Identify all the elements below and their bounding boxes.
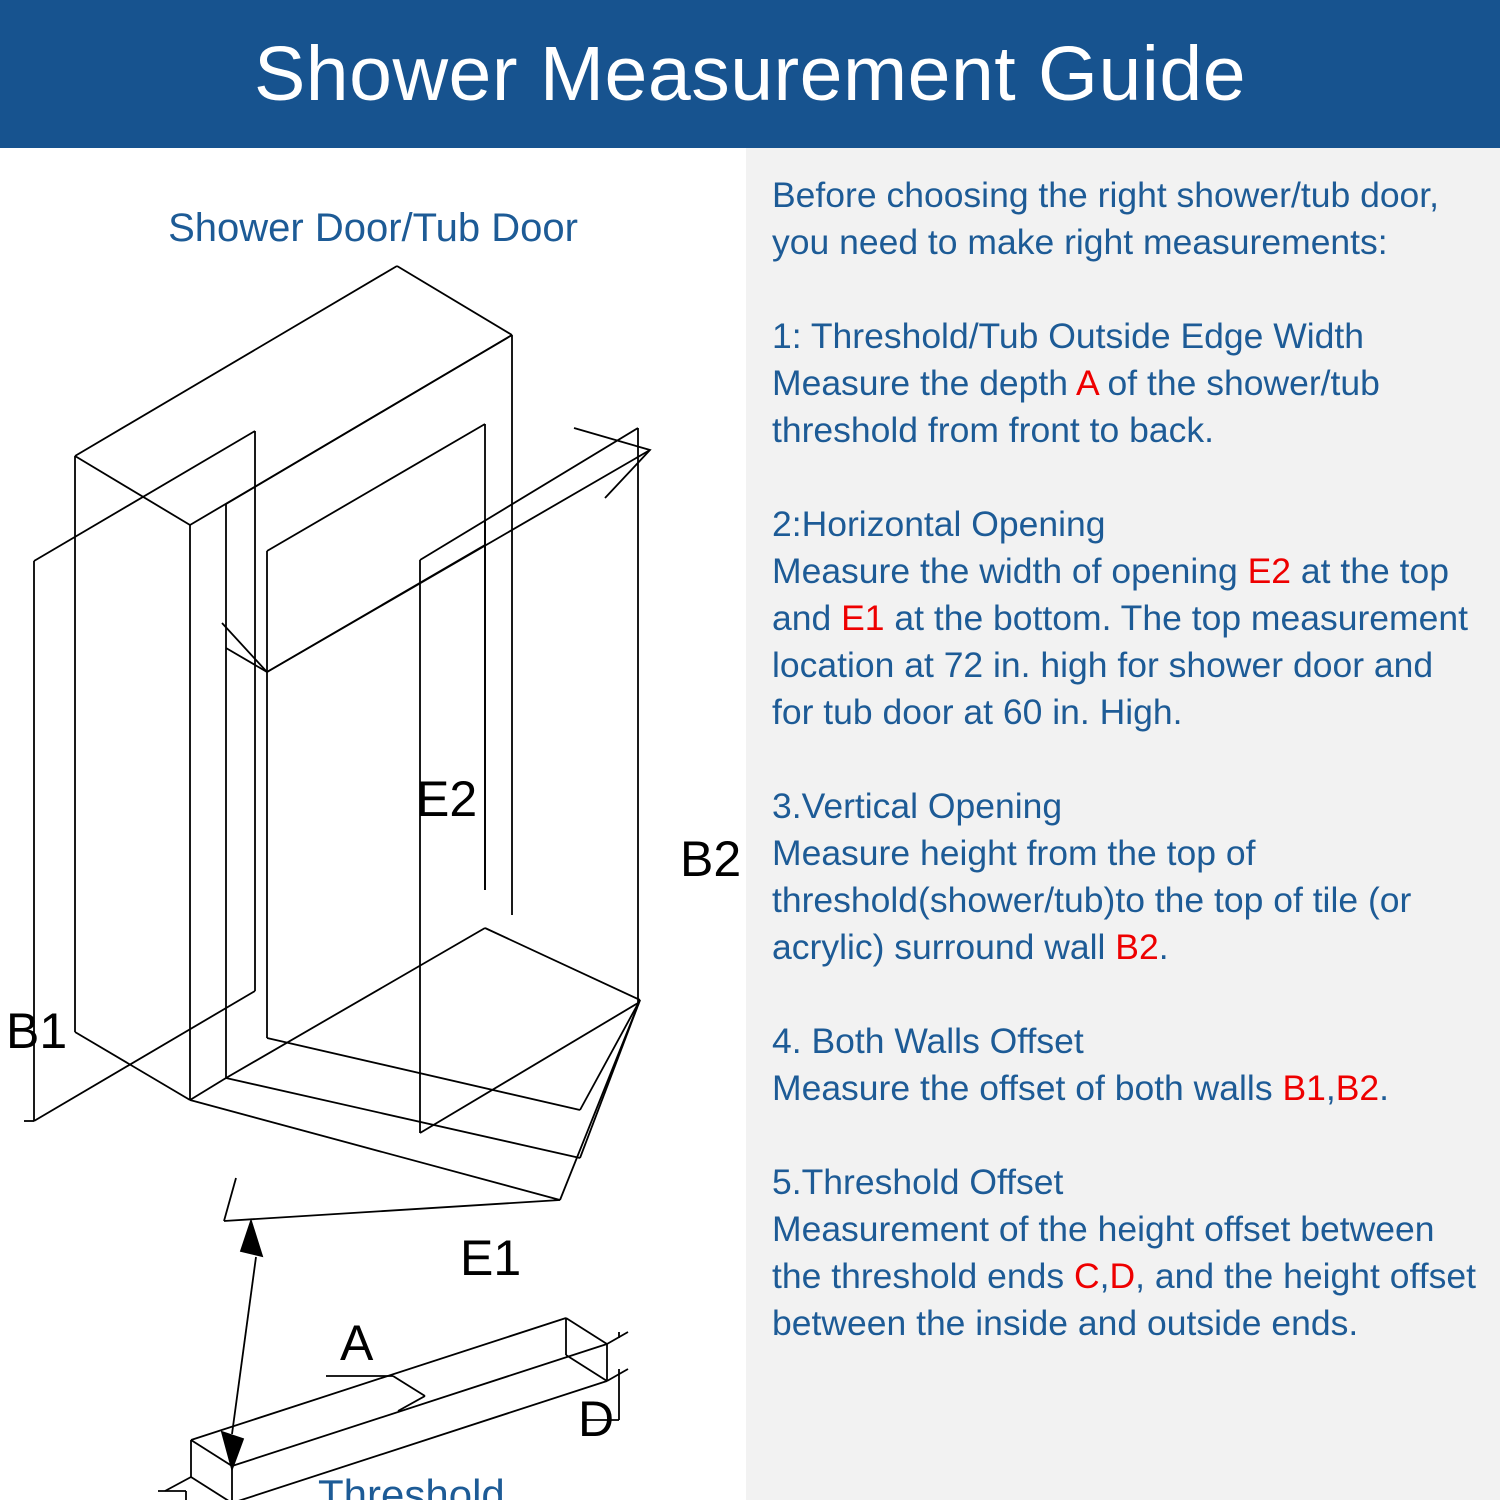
step-5-body-mid: , <box>1100 1256 1110 1296</box>
label-b1: B1 <box>6 1003 67 1059</box>
step-3-heading: 3.Vertical Opening <box>772 783 1484 830</box>
front-opening <box>226 335 512 1078</box>
step-1-mark-a: A <box>1076 363 1098 403</box>
step-4-body: Measure the offset of both walls B1,B2. <box>772 1065 1484 1112</box>
shower-enclosure-drawing: E2 E1 B1 B2 A C D Threshold <box>0 148 746 1500</box>
step-1-body: Measure the depth A of the shower/tub th… <box>772 360 1484 454</box>
step-5-mark-d: D <box>1109 1256 1135 1296</box>
step-2-body: Measure the width of opening E2 at the t… <box>772 548 1484 736</box>
step-2-mark-e2: E2 <box>1248 551 1291 591</box>
step-3-body-pre: Measure height from the top of threshold… <box>772 833 1411 967</box>
threshold-caption: Threshold <box>318 1471 505 1500</box>
enclosure-top-slab <box>75 266 512 525</box>
spacer <box>772 454 1484 501</box>
step-4-mark-b1: B1 <box>1282 1068 1325 1108</box>
label-b2: B2 <box>680 831 741 887</box>
guide-page: Shower Measurement Guide Shower Door/Tub… <box>0 0 1500 1500</box>
a-leader-line <box>326 1376 425 1411</box>
label-a: A <box>340 1315 374 1371</box>
step-4-mark-b2: B2 <box>1336 1068 1379 1108</box>
page-title: Shower Measurement Guide <box>254 36 1246 113</box>
label-c: C <box>152 1491 188 1500</box>
step-5-heading: 5.Threshold Offset <box>772 1159 1484 1206</box>
e1-dimension-line <box>224 1178 560 1221</box>
step-2-mark-e1: E1 <box>841 598 884 638</box>
step-2-heading: 2:Horizontal Opening <box>772 501 1484 548</box>
step-4-body-post: . <box>1379 1068 1389 1108</box>
spacer <box>772 736 1484 783</box>
step-2-body-pre: Measure the width of opening <box>772 551 1248 591</box>
spacer <box>772 1112 1484 1159</box>
label-e2: E2 <box>416 771 477 827</box>
step-5-body: Measurement of the height offset between… <box>772 1206 1484 1347</box>
enclosure-outer-edges <box>75 335 512 1100</box>
label-d: D <box>578 1391 614 1447</box>
intro-paragraph: Before choosing the right shower/tub doo… <box>772 172 1484 266</box>
spacer <box>772 971 1484 1018</box>
page-header: Shower Measurement Guide <box>0 0 1500 148</box>
step-3-body-post: . <box>1159 927 1169 967</box>
step-5-mark-c: C <box>1074 1256 1100 1296</box>
step-1-body-pre: Measure the depth <box>772 363 1076 403</box>
step-4-heading: 4. Both Walls Offset <box>772 1018 1484 1065</box>
instructions-text: Before choosing the right shower/tub doo… <box>772 172 1484 1347</box>
spacer <box>772 266 1484 313</box>
step-4-body-pre: Measure the offset of both walls <box>772 1068 1282 1108</box>
step-4-body-mid: , <box>1326 1068 1336 1108</box>
header-bar-inner <box>226 545 485 672</box>
diagram-panel: Shower Door/Tub Door <box>0 148 746 1500</box>
threshold-callout-arrow <box>222 1221 262 1469</box>
step-3-body: Measure height from the top of threshold… <box>772 830 1484 971</box>
instructions-panel: Before choosing the right shower/tub doo… <box>746 148 1500 1500</box>
label-e1: E1 <box>460 1230 521 1286</box>
step-1-heading: 1: Threshold/Tub Outside Edge Width <box>772 313 1484 360</box>
step-3-mark-b2: B2 <box>1115 927 1158 967</box>
